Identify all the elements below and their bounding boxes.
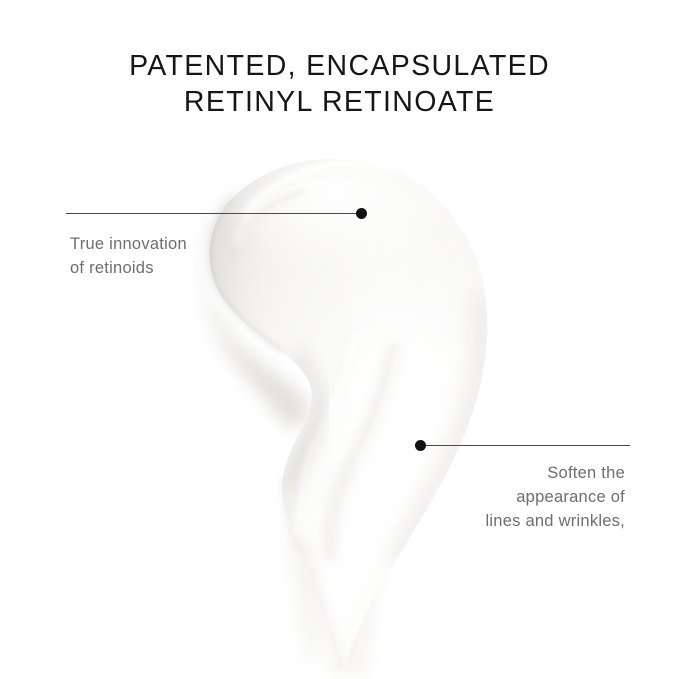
callout-left-dot-marker bbox=[356, 208, 367, 219]
page-title: PATENTED, ENCAPSULATED RETINYL RETINOATE bbox=[0, 48, 679, 120]
title-line-1: PATENTED, ENCAPSULATED bbox=[0, 48, 679, 84]
callout-right-line-1: Soften the bbox=[385, 461, 625, 485]
callout-right-leader-line bbox=[421, 445, 630, 446]
callout-right-line-3: lines and wrinkles, bbox=[385, 509, 625, 533]
product-graphic-canvas: PATENTED, ENCAPSULATED RETINYL RETINOATE… bbox=[0, 0, 679, 679]
callout-right-text: Soften the appearance of lines and wrink… bbox=[385, 461, 625, 533]
callout-left-line-2: of retinoids bbox=[70, 256, 187, 280]
callout-left-leader-line bbox=[66, 213, 364, 214]
callout-right-dot-marker bbox=[415, 440, 426, 451]
callout-left-line-1: True innovation bbox=[70, 232, 187, 256]
title-line-2: RETINYL RETINOATE bbox=[0, 84, 679, 120]
callout-left-text: True innovation of retinoids bbox=[70, 232, 187, 280]
callout-right-line-2: appearance of bbox=[385, 485, 625, 509]
swatch-body bbox=[195, 150, 510, 672]
